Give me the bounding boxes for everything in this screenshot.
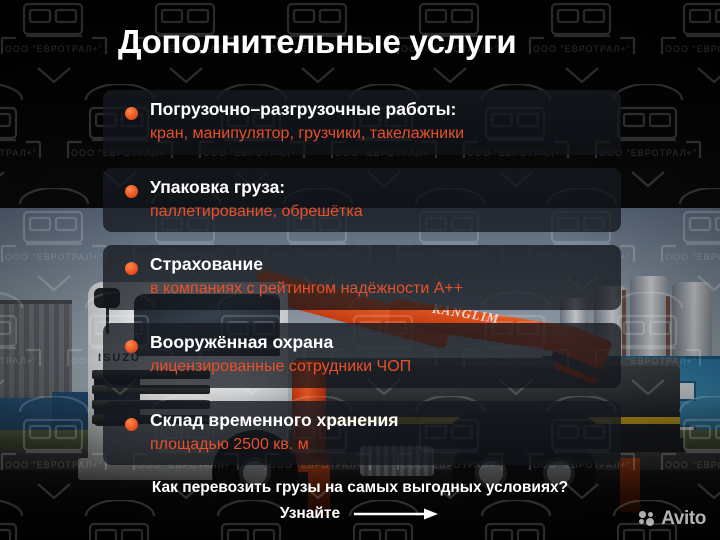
service-item: Упаковка груза:паллетирование, обрешётка xyxy=(103,168,621,233)
content-layer: Дополнительные услуги Погрузочно–разгруз… xyxy=(0,0,720,540)
footer-cta-row[interactable]: Узнайте xyxy=(0,504,720,524)
service-detail: паллетирование, обрешётка xyxy=(150,202,605,223)
footer-question: Как перевозить грузы на самых выгодных у… xyxy=(0,478,720,498)
service-heading: Вооружённая охрана xyxy=(150,332,605,354)
promo-banner: KANGLIM ISUZU 3340 ООО "ЕВРОТРАЛ+"ООО "Е… xyxy=(0,0,720,540)
service-detail: кран, манипулятор, грузчики, такелажники xyxy=(150,124,605,145)
arrow-right-icon xyxy=(354,508,440,520)
bullet-dot-icon xyxy=(125,107,138,120)
service-detail: площадью 2500 кв. м xyxy=(150,435,605,456)
footer-cta-label[interactable]: Узнайте xyxy=(280,504,340,524)
page-title: Дополнительные услуги xyxy=(118,24,516,60)
service-detail: лицензированные сотрудники ЧОП xyxy=(150,357,605,378)
service-heading: Склад временного хранения xyxy=(150,410,605,432)
bullet-dot-icon xyxy=(125,185,138,198)
bullet-dot-icon xyxy=(125,340,138,353)
bullet-dot-icon xyxy=(125,262,138,275)
bullet-dot-icon xyxy=(125,418,138,431)
avito-wordmark: Avito xyxy=(661,509,706,528)
service-heading: Упаковка груза: xyxy=(150,177,605,199)
avito-logo: Avito xyxy=(639,509,706,528)
service-item: Страхованиев компаниях с рейтингом надёж… xyxy=(103,245,621,310)
service-detail: в компаниях с рейтингом надёжности A++ xyxy=(150,279,605,300)
services-list: Погрузочно–разгрузочные работы:кран, ман… xyxy=(103,90,621,478)
service-item: Погрузочно–разгрузочные работы:кран, ман… xyxy=(103,90,621,155)
service-heading: Погрузочно–разгрузочные работы: xyxy=(150,99,605,121)
avito-dots-icon xyxy=(639,511,656,526)
service-item: Вооружённая охраналицензированные сотруд… xyxy=(103,323,621,388)
service-item: Склад временного храненияплощадью 2500 к… xyxy=(103,401,621,466)
service-heading: Страхование xyxy=(150,254,605,276)
footer: Как перевозить грузы на самых выгодных у… xyxy=(0,478,720,524)
